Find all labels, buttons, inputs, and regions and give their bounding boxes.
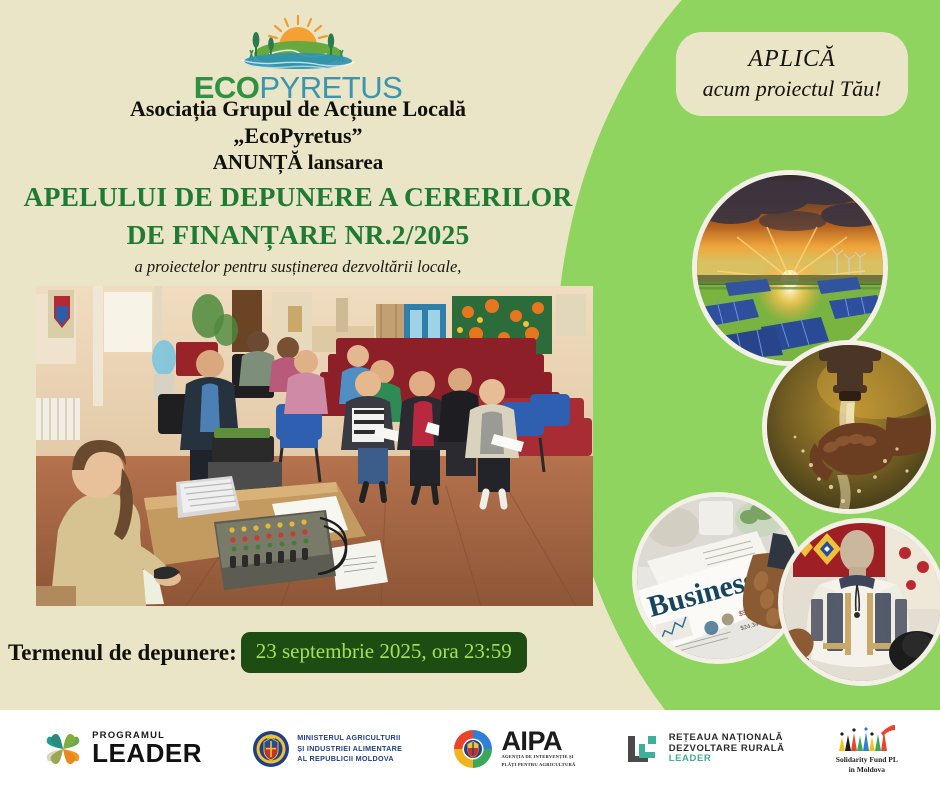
rndr-mark-icon bbox=[626, 732, 662, 766]
aipa-sub-line-1: AGENȚIA DE INTERVENȚIE ȘI bbox=[501, 754, 575, 761]
solidarity-fund-crowd-icon bbox=[835, 723, 899, 753]
leader-pinwheel-icon bbox=[41, 727, 85, 771]
ministerul-line-1: MINISTERUL AGRICULTURII bbox=[297, 733, 402, 743]
ministerul-text-block: MINISTERUL AGRICULTURII ȘI INDUSTRIEI AL… bbox=[297, 733, 402, 764]
apply-callout: APLICĂ acum proiectul Tău! bbox=[676, 32, 908, 116]
apply-callout-line-2: acum proiectul Tău! bbox=[703, 76, 882, 102]
deadline-row: Termenul de depunere: 23 septembrie 2025… bbox=[8, 632, 527, 673]
community-meeting-photo bbox=[36, 286, 593, 606]
solidarity-fund-text-block: Solidarity Fund PL in Moldova bbox=[836, 755, 898, 775]
embroidered-blouse-illustration bbox=[783, 523, 940, 681]
community-meeting-illustration bbox=[36, 286, 593, 606]
rndr-text-block: REȚEAUA NAȚIONALĂ DEZVOLTARE RURALĂ LEAD… bbox=[669, 733, 785, 765]
aipa-emblem-icon bbox=[452, 728, 494, 770]
footer-logo-aipa: AIPA AGENȚIA DE INTERVENȚIE ȘI PLĂȚI PEN… bbox=[452, 728, 575, 770]
solar-panels-sunset-photo bbox=[692, 170, 888, 366]
aipa-text-block: AIPA AGENȚIA DE INTERVENȚIE ȘI PLĂȚI PEN… bbox=[501, 729, 575, 769]
footer-logo-ministerul-agriculturii: MINISTERUL AGRICULTURII ȘI INDUSTRIEI AL… bbox=[252, 730, 402, 768]
deadline-value-chip: 23 septembrie 2025, ora 23:59 bbox=[241, 632, 527, 673]
headline-highlight-line-1: APELULUI DE DEPUNERE A CERERILOR bbox=[0, 182, 596, 213]
solar-panels-illustration bbox=[697, 175, 883, 361]
hands-water-tap-photo bbox=[762, 340, 936, 514]
footer-logo-reteaua-nationala: REȚEAUA NAȚIONALĂ DEZVOLTARE RURALĂ LEAD… bbox=[626, 732, 785, 766]
solidarity-fund-line-1: Solidarity Fund PL bbox=[836, 755, 898, 765]
headline-line-1: Asociația Grupul de Acțiune Locală bbox=[0, 96, 596, 123]
headline-line-3: ANUNȚĂ lansarea bbox=[0, 150, 596, 176]
aipa-sub-line-2: PLĂȚI PENTRU AGRICULTURĂ bbox=[501, 762, 575, 769]
ministerul-line-3: AL REPUBLICII MOLDOVA bbox=[297, 754, 402, 764]
ministerul-line-2: ȘI INDUSTRIEI ALIMENTARE bbox=[297, 744, 402, 754]
headline-highlight-line-2: DE FINANȚARE NR.2/2025 bbox=[0, 220, 596, 251]
headline-line-2: „EcoPyretus” bbox=[0, 123, 596, 150]
moldova-coat-of-arms-icon bbox=[252, 730, 290, 768]
sun-field-water-logo-icon bbox=[213, 14, 383, 74]
headline-sub-line-1: a proiectelor pentru susținerea dezvoltă… bbox=[0, 256, 596, 277]
footer-logo-solidarity-fund: Solidarity Fund PL in Moldova bbox=[835, 723, 899, 775]
poster-root: ECOPYRETUS Asociația Grupul de Acțiune L… bbox=[0, 0, 940, 788]
apply-callout-line-1: APLICĂ bbox=[748, 46, 835, 73]
rndr-line-3: LEADER bbox=[669, 754, 785, 765]
traditional-embroidered-blouse-photo bbox=[778, 518, 940, 686]
leader-main-text: LEADER bbox=[92, 738, 202, 769]
ecopyretus-logo: ECOPYRETUS bbox=[0, 14, 596, 106]
headline-block: Asociația Grupul de Acțiune Locală „EcoP… bbox=[0, 96, 596, 303]
deadline-label: Termenul de depunere: bbox=[8, 640, 237, 666]
newspaper-illustration: Business $976.00 $24.34 bbox=[637, 497, 799, 659]
leader-wordmark: PROGRAMUL LEADER bbox=[92, 730, 202, 769]
aipa-main-text: AIPA bbox=[501, 729, 575, 753]
solidarity-fund-line-2: in Moldova bbox=[836, 765, 898, 775]
water-tap-illustration bbox=[767, 345, 931, 509]
footer-logos-strip: PROGRAMUL LEADER MINISTERUL AGRICULTURII… bbox=[0, 710, 940, 788]
business-newspaper-photo: Business $976.00 $24.34 bbox=[632, 492, 804, 664]
footer-logo-programul-leader: PROGRAMUL LEADER bbox=[41, 727, 202, 771]
